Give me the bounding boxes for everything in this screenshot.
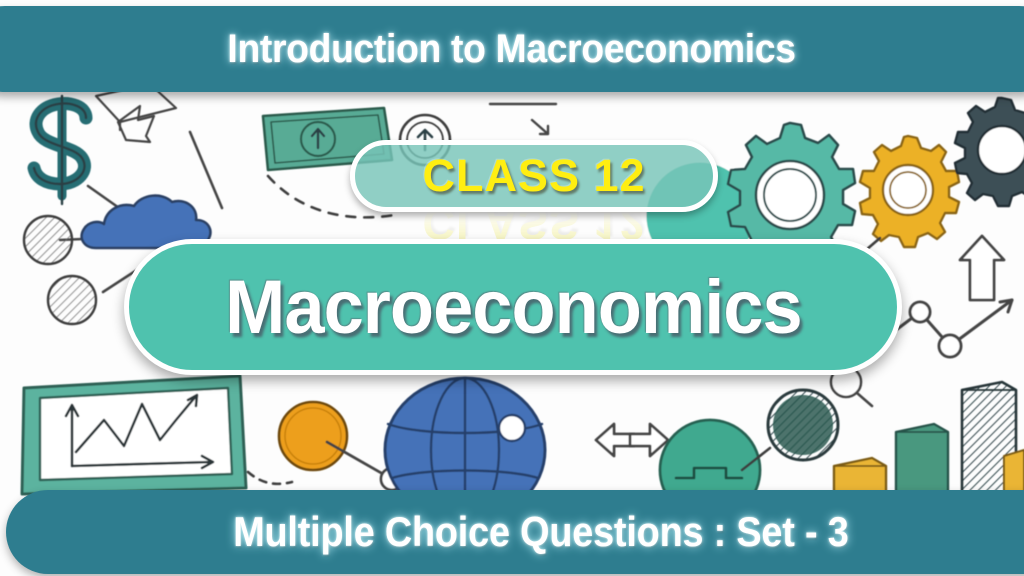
gear-icon bbox=[860, 136, 959, 247]
subject-badge-label: Macroeconomics bbox=[225, 264, 802, 351]
hatched-circle-icon bbox=[24, 216, 72, 264]
header-bar: Introduction to Macroeconomics bbox=[0, 6, 1024, 92]
coin-icon bbox=[279, 402, 347, 470]
class-badge-group: CLASS 12 CLASS 12 bbox=[350, 140, 718, 250]
page-title: Introduction to Macroeconomics bbox=[228, 27, 796, 72]
line-chart-screen-icon bbox=[22, 376, 246, 494]
slide-canvas: Introduction to Macroeconomics CLASS 12 … bbox=[0, 0, 1024, 576]
coin-icon bbox=[768, 390, 838, 460]
network-node-icon bbox=[896, 300, 1012, 357]
left-right-arrows-icon bbox=[596, 424, 668, 456]
up-arrow-icon bbox=[118, 106, 154, 142]
gear-icon bbox=[955, 98, 1024, 206]
class-badge-label: CLASS 12 bbox=[422, 150, 645, 202]
class-badge: CLASS 12 bbox=[350, 140, 718, 212]
subject-badge: Macroeconomics bbox=[124, 239, 902, 375]
box-icon bbox=[1004, 450, 1024, 492]
bar-chart-icon bbox=[834, 382, 1016, 502]
footer-bar: Multiple Choice Questions : Set - 3 bbox=[6, 490, 1024, 574]
footer-title: Multiple Choice Questions : Set - 3 bbox=[233, 508, 848, 556]
up-arrow-icon bbox=[960, 236, 1004, 300]
dollar-sign-icon bbox=[34, 96, 86, 204]
hatched-circle-icon bbox=[48, 276, 96, 324]
